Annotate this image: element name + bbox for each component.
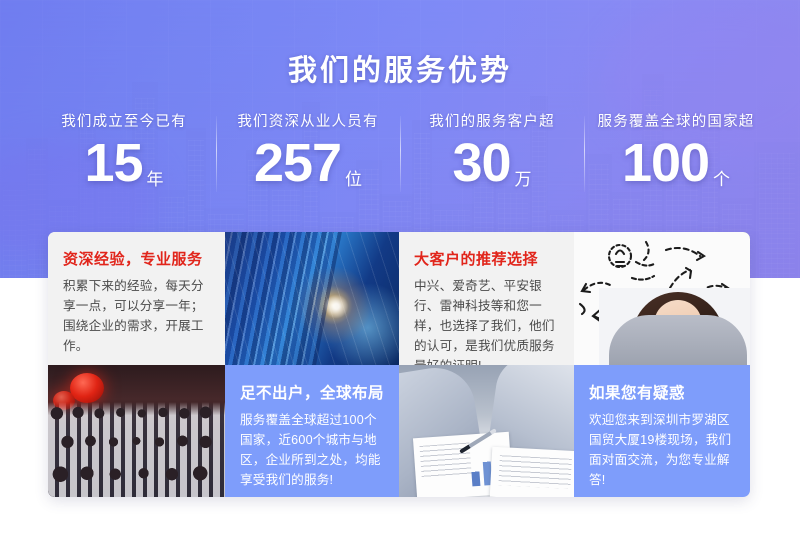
stat-label: 服务覆盖全球的国家超 — [584, 112, 768, 132]
card-title: 资深经验，专业服务 — [63, 248, 212, 269]
advantages-grid: 资深经验，专业服务 积累下来的经验，每天分享一点，可以分享一年；围绕企业的需求，… — [48, 232, 750, 497]
card-title: 如果您有疑惑 — [589, 381, 737, 403]
card-body: 服务覆盖全球超过100个国家，近600个城市与地区，企业所到之处，均能享受我们的… — [240, 410, 386, 490]
card-body: 积累下来的经验，每天分享一点，可以分享一年；围绕企业的需求，开展工作。 — [63, 276, 212, 356]
stat-value: 100 个 — [584, 136, 768, 190]
service-advantages-page: 我们的服务优势 我们成立至今已有 15 年 我们资深从业人员有 257 位 我们… — [0, 0, 800, 534]
stat-unit: 万 — [515, 171, 532, 188]
stat-number: 30 — [452, 136, 510, 190]
stat-unit: 位 — [345, 171, 362, 188]
stat-value: 257 位 — [216, 136, 400, 190]
stat-label: 我们的服务客户超 — [400, 112, 584, 132]
stat-value: 30 万 — [400, 136, 584, 190]
stat-label: 我们成立至今已有 — [32, 112, 216, 132]
card-body: 中兴、爱奇艺、平安银行、雷神科技等和您一样，也选择了我们，他们的认可，是我们优质… — [414, 276, 561, 365]
blue-glass-building-photo — [225, 232, 399, 365]
stat-label: 我们资深从业人员有 — [216, 112, 400, 132]
stat-item-customers: 我们的服务客户超 30 万 — [400, 112, 584, 202]
stat-item-countries: 服务覆盖全球的国家超 100 个 — [584, 112, 768, 202]
stat-number: 15 — [84, 136, 142, 190]
stat-unit: 年 — [147, 171, 164, 188]
card-title: 足不出户，全球布局 — [240, 381, 386, 403]
staff-group-photo — [48, 365, 225, 497]
card-global-layout: 足不出户，全球布局 服务覆盖全球超过100个国家，近600个城市与地区，企业所到… — [225, 365, 399, 497]
card-questions: 如果您有疑惑 欢迎您来到深圳市罗湖区国贸大厦19楼现场，我们面对面交流，为您专业… — [574, 365, 750, 497]
card-title: 大客户的推荐选择 — [414, 248, 561, 269]
business-meeting-documents-photo — [399, 365, 574, 497]
stat-item-staff: 我们资深从业人员有 257 位 — [216, 112, 400, 202]
card-key-clients: 大客户的推荐选择 中兴、爱奇艺、平安银行、雷神科技等和您一样，也选择了我们，他们… — [399, 232, 574, 365]
stats-row: 我们成立至今已有 15 年 我们资深从业人员有 257 位 我们的服务客户超 3… — [32, 112, 768, 202]
page-title: 我们的服务优势 — [0, 47, 800, 89]
stat-item-years: 我们成立至今已有 15 年 — [32, 112, 216, 202]
card-senior-experience: 资深经验，专业服务 积累下来的经验，每天分享一点，可以分享一年；围绕企业的需求，… — [48, 232, 225, 365]
idea-lightbulb-sketch-photo — [574, 232, 750, 365]
stat-value: 15 年 — [32, 136, 216, 190]
stat-number: 100 — [622, 136, 709, 190]
stat-number: 257 — [254, 136, 341, 190]
stat-unit: 个 — [713, 171, 730, 188]
card-body: 欢迎您来到深圳市罗湖区国贸大厦19楼现场，我们面对面交流，为您专业解答! — [589, 410, 737, 490]
